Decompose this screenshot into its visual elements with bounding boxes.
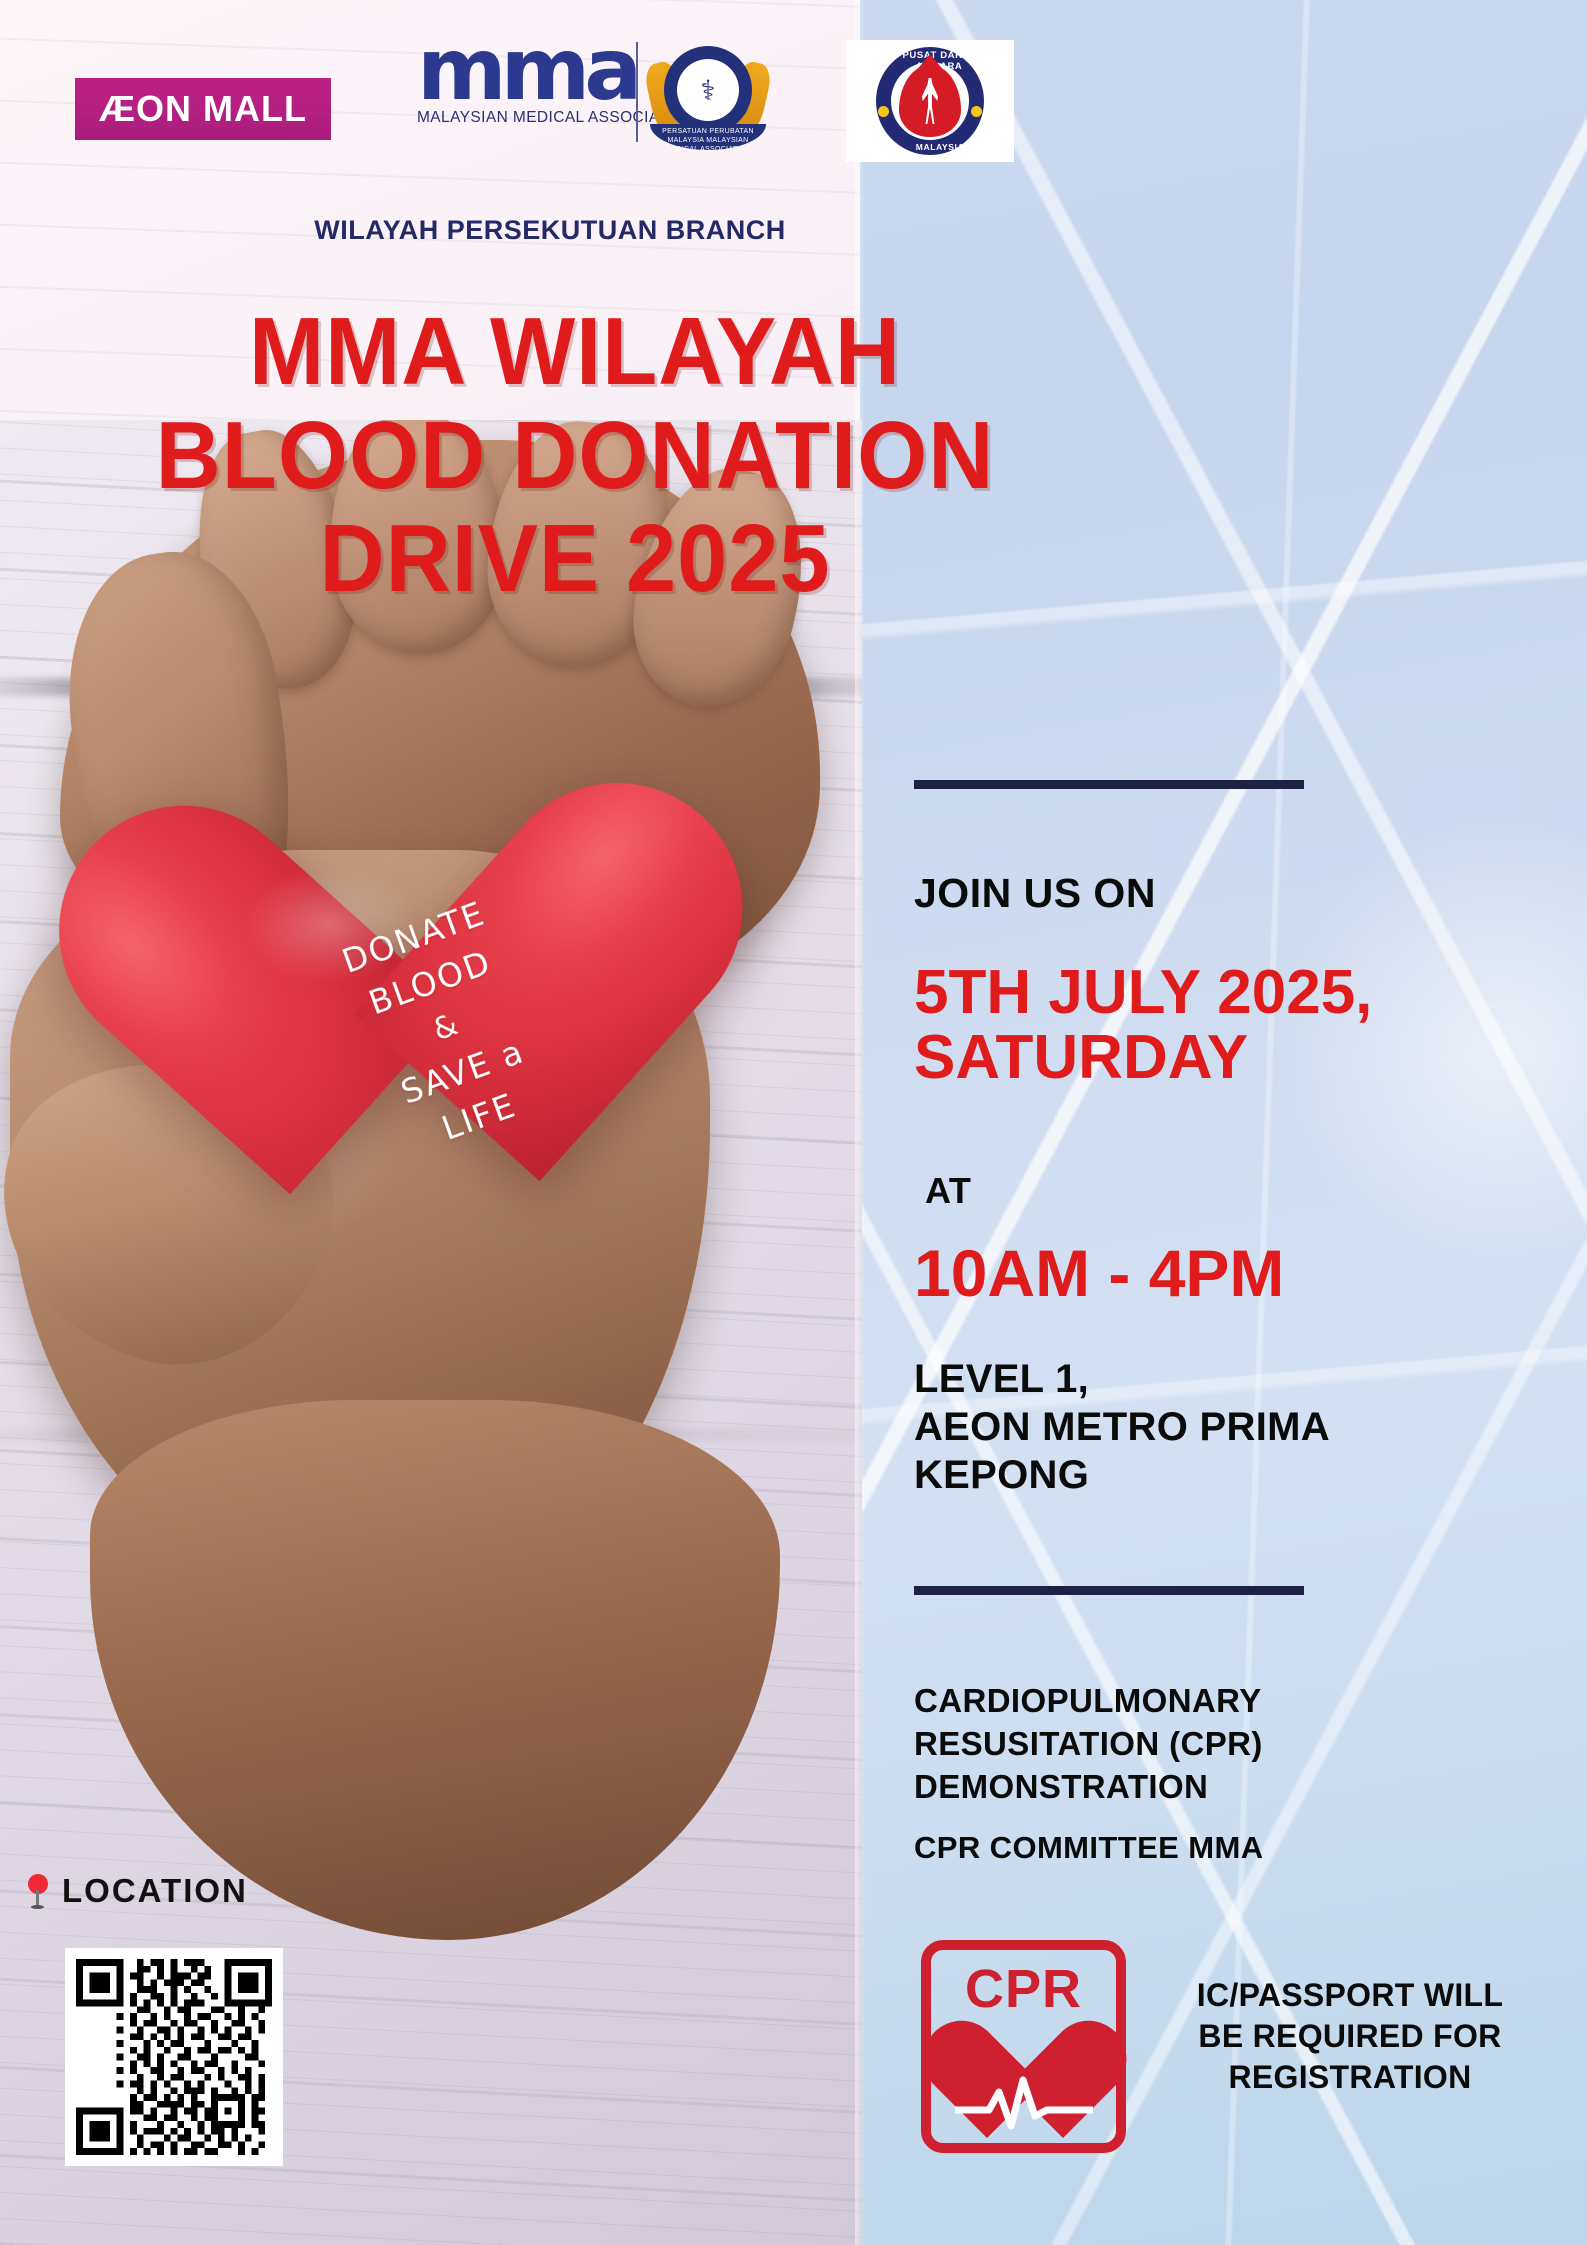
cpr-badge-logo: CPR — [921, 1940, 1126, 2153]
cpr-heart-icon — [959, 2024, 1089, 2136]
divider-rule-middle — [914, 1586, 1304, 1595]
event-date: 5TH JULY 2025, SATURDAY — [914, 960, 1474, 1090]
pdn-blood-drop-icon — [899, 65, 961, 137]
mma-logo: mma MALAYSIAN MEDICAL ASSOCIATION — [417, 38, 627, 156]
pdn-human-figure-icon — [922, 78, 938, 124]
mma-logo-wordmark: mma — [417, 34, 627, 107]
divider-rule-top — [914, 780, 1304, 789]
logo-separator-line — [636, 42, 638, 142]
ecg-pulse-icon — [955, 2076, 1093, 2134]
pusat-darah-negara-logo: PUSAT DARAH NEGARA MALAYSIA — [846, 40, 1014, 162]
cpr-badge-label: CPR — [965, 1962, 1082, 2016]
aeon-mall-logo-text: ÆON MALL — [99, 88, 307, 130]
at-label: AT — [925, 1170, 971, 1212]
crest-caduceus-icon: ⚕ — [677, 59, 739, 121]
pdn-bottom-label: MALAYSIA — [881, 142, 999, 152]
poster-title: MMA WILAYAH BLOOD DONATION DRIVE 2025 — [35, 300, 1116, 611]
map-pin-icon — [28, 1874, 48, 1908]
pdn-ring: PUSAT DARAH NEGARA MALAYSIA — [876, 47, 984, 155]
location-label: LOCATION — [62, 1872, 248, 1910]
event-venue: LEVEL 1, AEON METRO PRIMA KEPONG — [914, 1355, 1474, 1499]
red-heart-shape: DONATE BLOOD & SAVE a LIFE — [174, 779, 635, 1221]
crest-banner-text: PERSATUAN PERUBATAN MALAYSIA MALAYSIAN M… — [650, 124, 766, 150]
location-qr-code[interactable] — [65, 1948, 283, 2166]
location-heading: LOCATION — [28, 1872, 248, 1910]
heart-handwritten-text: DONATE BLOOD & SAVE a LIFE — [265, 864, 629, 1191]
mma-crest-emblem: ⚕ PERSATUAN PERUBATAN MALAYSIA MALAYSIAN… — [648, 38, 768, 158]
lower-hand-wrist — [90, 1400, 780, 1940]
join-us-on-label: JOIN US ON — [914, 870, 1156, 917]
pdn-dot-right-icon — [971, 106, 982, 117]
title-line-2: BLOOD DONATION — [35, 404, 1116, 508]
title-line-3: DRIVE 2025 — [35, 507, 1116, 611]
registration-requirement-note: IC/PASSPORT WILL BE REQUIRED FOR REGISTR… — [1185, 1975, 1515, 2098]
pdn-dot-left-icon — [878, 106, 889, 117]
title-line-1: MMA WILAYAH — [35, 300, 1116, 404]
crest-ring: ⚕ — [664, 46, 752, 134]
cpr-demonstration-text: CARDIOPULMONARY RESUSITATION (CPR) DEMON… — [914, 1680, 1474, 1809]
cpr-committee-text: CPR COMMITTEE MMA — [914, 1830, 1264, 1866]
event-time: 10AM - 4PM — [914, 1235, 1284, 1311]
aeon-mall-logo: ÆON MALL — [75, 78, 331, 140]
mma-logo-subtitle: MALAYSIAN MEDICAL ASSOCIATION — [417, 109, 627, 127]
branch-name: WILAYAH PERSEKUTUAN BRANCH — [0, 215, 1100, 246]
qr-code-image[interactable] — [76, 1959, 272, 2155]
poster-canvas: DONATE BLOOD & SAVE a LIFE ÆON MALL mma … — [0, 0, 1587, 2245]
